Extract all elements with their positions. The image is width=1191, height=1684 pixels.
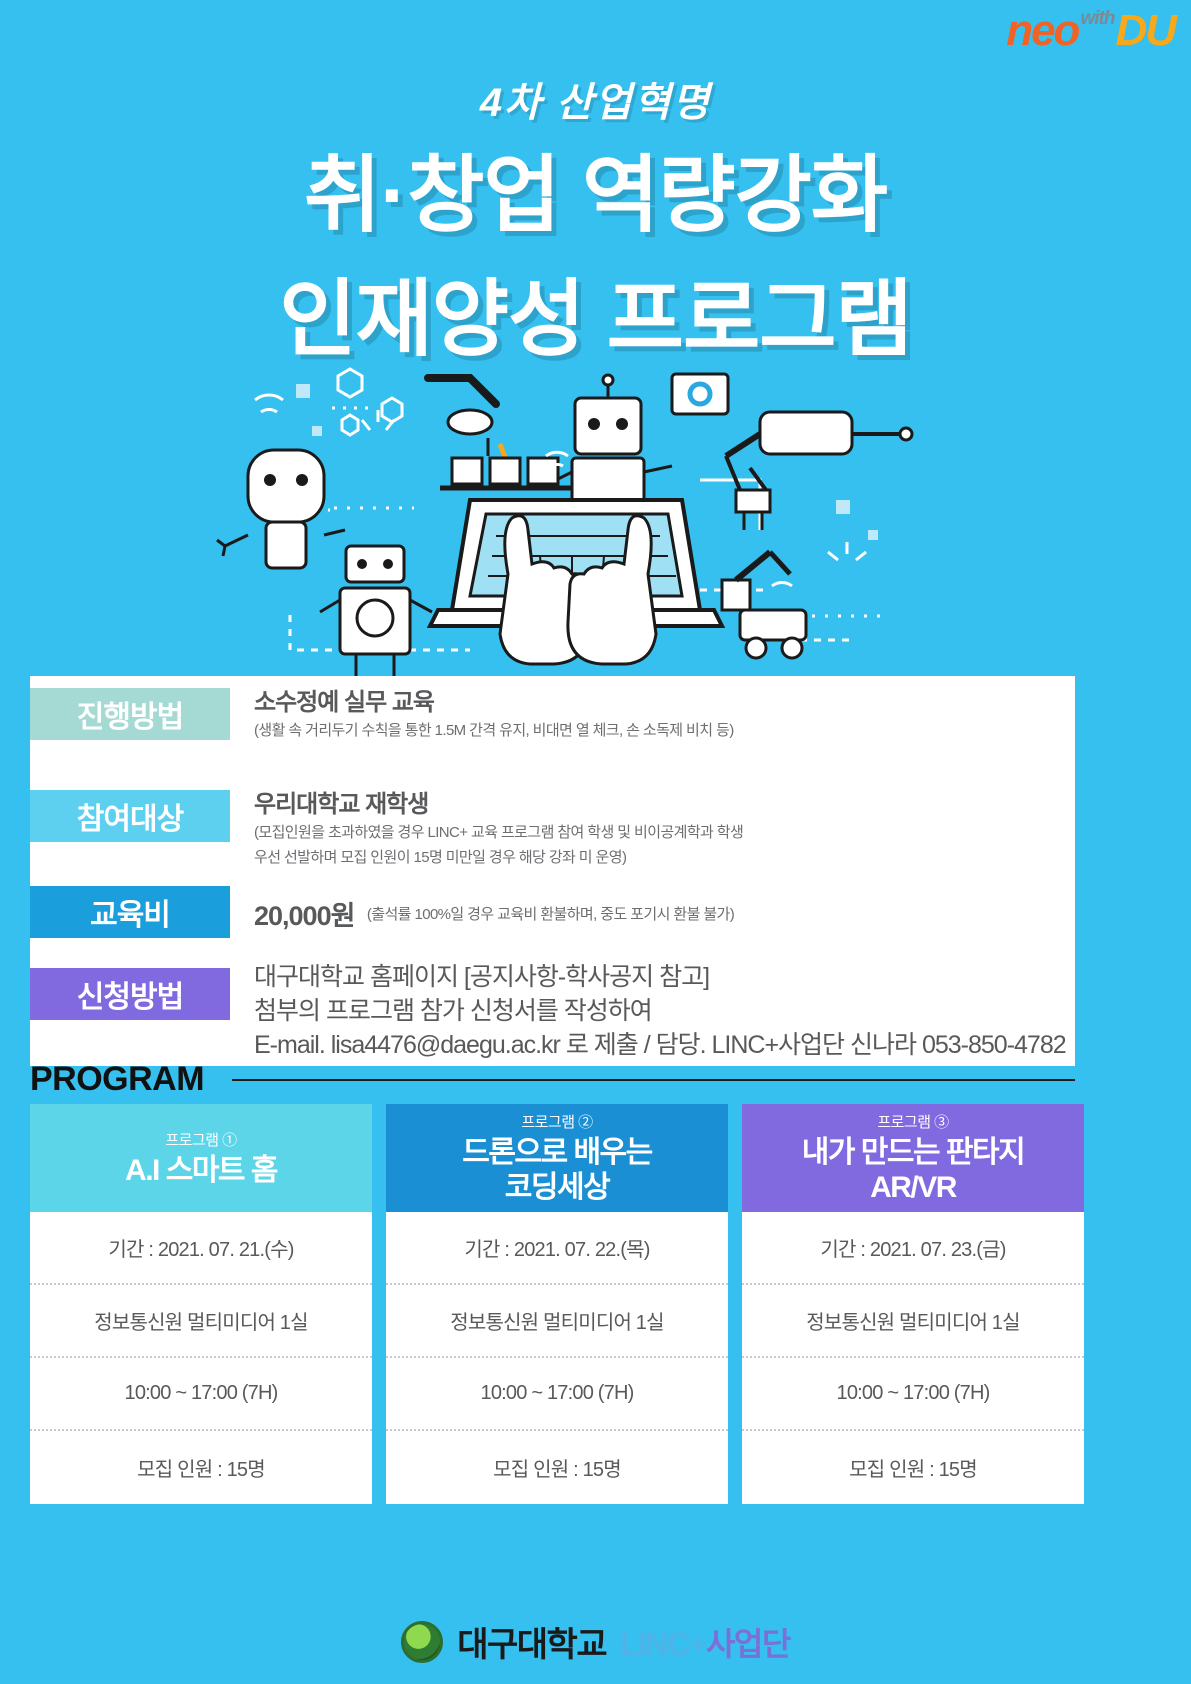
info-panel: 진행방법 소수정예 실무 교육 (생활 속 거리두기 수칙을 통한 1.5M 간… <box>30 676 1075 1066</box>
title-eyebrow: 4차 산업혁명 <box>0 70 1191 128</box>
university-seal-icon <box>401 1621 443 1663</box>
program-card-label: 프로그램 ① <box>165 1129 236 1150</box>
footer-logos: 대구대학교 LINC+사업단 <box>0 1617 1191 1666</box>
program-card-header: 프로그램 ① A.I 스마트 홈 <box>30 1104 372 1212</box>
logo-with-text: with <box>1080 8 1114 30</box>
program-card-time: 10:00 ~ 17:00 (7H) <box>742 1358 1084 1431</box>
info-tag-target: 참여대상 <box>30 790 230 842</box>
program-card-location: 정보통신원 멀티미디어 1실 <box>30 1285 372 1358</box>
program-card[interactable]: 프로그램 ① A.I 스마트 홈 기간 : 2021. 07. 21.(수) 정… <box>30 1104 372 1504</box>
program-card-capacity: 모집 인원 : 15명 <box>30 1431 372 1504</box>
linc-logo: LINC+사업단 <box>620 1619 790 1665</box>
university-name: 대구대학교 <box>457 1617 606 1666</box>
info-body-method: 소수정예 실무 교육 (생활 속 거리두기 수칙을 통한 1.5M 간격 유지,… <box>230 688 734 743</box>
program-card-header: 프로그램 ③ 내가 만드는 판타지 AR/VR <box>742 1104 1084 1212</box>
info-sub-target-2: 우선 선발하며 모집 인원이 15명 미만일 경우 해당 강좌 미 운영) <box>254 845 743 870</box>
program-card[interactable]: 프로그램 ③ 내가 만드는 판타지 AR/VR 기간 : 2021. 07. 2… <box>742 1104 1084 1504</box>
info-apply-line-2: 첨부의 프로그램 참가 신청서를 작성하여 <box>254 994 1066 1028</box>
info-row-method: 진행방법 소수정예 실무 교육 (생활 속 거리두기 수칙을 통한 1.5M 간… <box>30 688 1075 743</box>
info-fee-note: (출석률 100%일 경우 교육비 환불하며, 중도 포기시 환불 불가) <box>367 903 734 924</box>
program-card-label: 프로그램 ③ <box>877 1111 948 1132</box>
info-body-fee: 20,000원 (출석률 100%일 경우 교육비 환불하며, 중도 포기시 환… <box>230 886 734 938</box>
program-card-body: 기간 : 2021. 07. 21.(수) 정보통신원 멀티미디어 1실 10:… <box>30 1212 372 1504</box>
program-heading: PROGRAM <box>30 1060 1075 1099</box>
program-card-period: 기간 : 2021. 07. 23.(금) <box>742 1212 1084 1285</box>
program-heading-text: PROGRAM <box>30 1060 204 1099</box>
robotics-illustration <box>0 360 1191 680</box>
title-line-1: 취·창업 역량강화 <box>0 128 1191 249</box>
poster-root: neo with DU 4차 산업혁명 취·창업 역량강화 인재양성 프로그램 <box>0 0 1191 1684</box>
program-card-label: 프로그램 ② <box>521 1111 592 1132</box>
program-card-location: 정보통신원 멀티미디어 1실 <box>742 1285 1084 1358</box>
program-card-title: 내가 만드는 판타지 AR/VR <box>802 1135 1024 1205</box>
neo-with-du-logo: neo with DU <box>1006 6 1175 56</box>
program-card-capacity: 모집 인원 : 15명 <box>386 1431 728 1504</box>
info-tag-apply: 신청방법 <box>30 968 230 1020</box>
linc-logo-part-1: LINC+ <box>620 1626 706 1662</box>
program-card-title-line-1: 드론으로 배우는 <box>462 1135 652 1170</box>
info-row-target: 참여대상 우리대학교 재학생 (모집인원을 초과하였을 경우 LINC+ 교육 … <box>30 790 1075 870</box>
info-title-method: 소수정예 실무 교육 <box>254 688 734 718</box>
program-card-header: 프로그램 ② 드론으로 배우는 코딩세상 <box>386 1104 728 1212</box>
program-card-title-line-2: AR/VR <box>802 1170 1024 1205</box>
info-sub-target-1: (모집인원을 초과하였을 경우 LINC+ 교육 프로그램 참여 학생 및 비이… <box>254 820 743 845</box>
program-card-title: 드론으로 배우는 코딩세상 <box>462 1135 652 1205</box>
info-fee-amount: 20,000원 <box>254 894 354 933</box>
program-card-title-line-1: 내가 만드는 판타지 <box>802 1135 1024 1170</box>
program-card-location: 정보통신원 멀티미디어 1실 <box>386 1285 728 1358</box>
info-body-apply: 대구대학교 홈페이지 [공지사항-학사공지 참고] 첨부의 프로그램 참가 신청… <box>230 960 1066 1062</box>
linc-logo-part-2: 사업단 <box>706 1626 790 1662</box>
info-apply-line-1: 대구대학교 홈페이지 [공지사항-학사공지 참고] <box>254 960 1066 994</box>
info-tag-fee: 교육비 <box>30 886 230 938</box>
program-card-body: 기간 : 2021. 07. 23.(금) 정보통신원 멀티미디어 1실 10:… <box>742 1212 1084 1504</box>
program-card-period: 기간 : 2021. 07. 21.(수) <box>30 1212 372 1285</box>
program-card-time: 10:00 ~ 17:00 (7H) <box>30 1358 372 1431</box>
program-card-title-line-2: 코딩세상 <box>462 1170 652 1205</box>
title-line-2: 인재양성 프로그램 <box>0 252 1191 373</box>
info-title-target: 우리대학교 재학생 <box>254 790 743 820</box>
info-tag-method: 진행방법 <box>30 688 230 740</box>
info-row-apply: 신청방법 대구대학교 홈페이지 [공지사항-학사공지 참고] 첨부의 프로그램 … <box>30 968 1075 1062</box>
info-sub-method: (생활 속 거리두기 수칙을 통한 1.5M 간격 유지, 비대면 열 체크, … <box>254 718 734 743</box>
program-heading-rule <box>232 1079 1075 1081</box>
program-card-period: 기간 : 2021. 07. 22.(목) <box>386 1212 728 1285</box>
program-card[interactable]: 프로그램 ② 드론으로 배우는 코딩세상 기간 : 2021. 07. 22.(… <box>386 1104 728 1504</box>
program-card-list: 프로그램 ① A.I 스마트 홈 기간 : 2021. 07. 21.(수) 정… <box>30 1104 1161 1504</box>
program-card-title: A.I 스마트 홈 <box>125 1153 277 1188</box>
program-card-capacity: 모집 인원 : 15명 <box>742 1431 1084 1504</box>
info-apply-line-3: E-mail. lisa4476@daegu.ac.kr 로 제출 / 담당. … <box>254 1028 1066 1062</box>
info-body-target: 우리대학교 재학생 (모집인원을 초과하였을 경우 LINC+ 교육 프로그램 … <box>230 790 743 870</box>
program-card-body: 기간 : 2021. 07. 22.(목) 정보통신원 멀티미디어 1실 10:… <box>386 1212 728 1504</box>
info-row-fee: 교육비 20,000원 (출석률 100%일 경우 교육비 환불하며, 중도 포… <box>30 886 1075 938</box>
logo-neo-text: neo <box>1006 6 1078 56</box>
logo-du-text: DU <box>1115 6 1175 56</box>
program-card-time: 10:00 ~ 17:00 (7H) <box>386 1358 728 1431</box>
